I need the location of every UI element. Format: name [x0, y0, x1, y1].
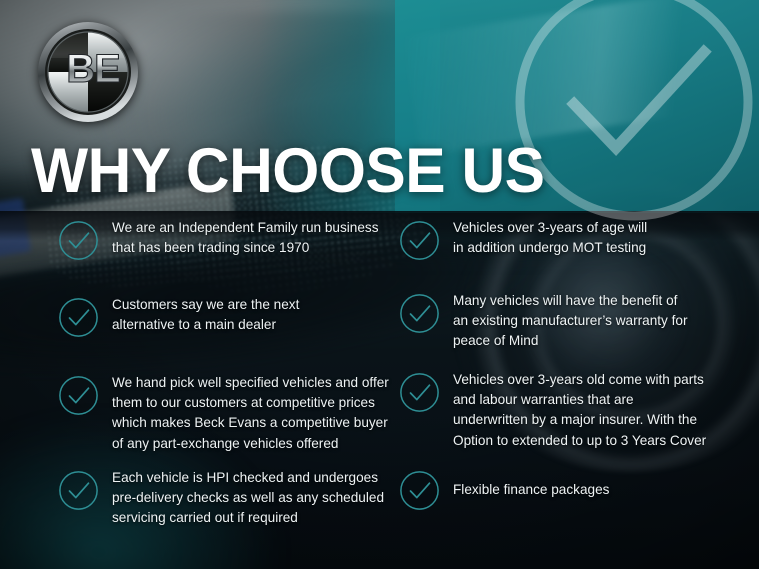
check-circle-icon [399, 470, 440, 511]
check-circle-icon [399, 293, 440, 334]
check-circle-icon [58, 375, 99, 416]
check-circle-icon [58, 470, 99, 511]
check-circle-icon [399, 372, 440, 413]
benefit-item: Customers say we are the next alternativ… [58, 295, 299, 338]
benefit-text: We hand pick well specified vehicles and… [112, 373, 389, 454]
benefit-text: Customers say we are the next alternativ… [112, 295, 299, 335]
benefit-item: Vehicles over 3-years old come with part… [399, 370, 706, 451]
benefit-text: Flexible finance packages [453, 480, 609, 500]
benefit-text: Each vehicle is HPI checked and undergoe… [112, 468, 384, 529]
benefit-text: Many vehicles will have the benefit of a… [453, 291, 687, 352]
benefit-item: Many vehicles will have the benefit of a… [399, 291, 687, 352]
check-circle-icon [58, 297, 99, 338]
check-circle-icon [399, 220, 440, 261]
why-choose-us-banner: BE WHY CHOOSE US We are an Independent F… [0, 0, 759, 569]
be-roundel-logo-icon: BE [36, 20, 140, 124]
page-title: WHY CHOOSE US [31, 138, 545, 204]
check-circle-icon [58, 220, 99, 261]
benefit-item: We are an Independent Family run busines… [58, 218, 379, 261]
benefit-item: Flexible finance packages [399, 468, 609, 511]
benefit-item: Vehicles over 3-years of age will in add… [399, 218, 647, 261]
benefit-item: We hand pick well specified vehicles and… [58, 373, 389, 454]
benefit-text: We are an Independent Family run busines… [112, 218, 379, 258]
benefit-text: Vehicles over 3-years of age will in add… [453, 218, 647, 258]
benefit-item: Each vehicle is HPI checked and undergoe… [58, 468, 384, 529]
svg-text:BE: BE [66, 47, 120, 91]
benefit-text: Vehicles over 3-years old come with part… [453, 370, 706, 451]
